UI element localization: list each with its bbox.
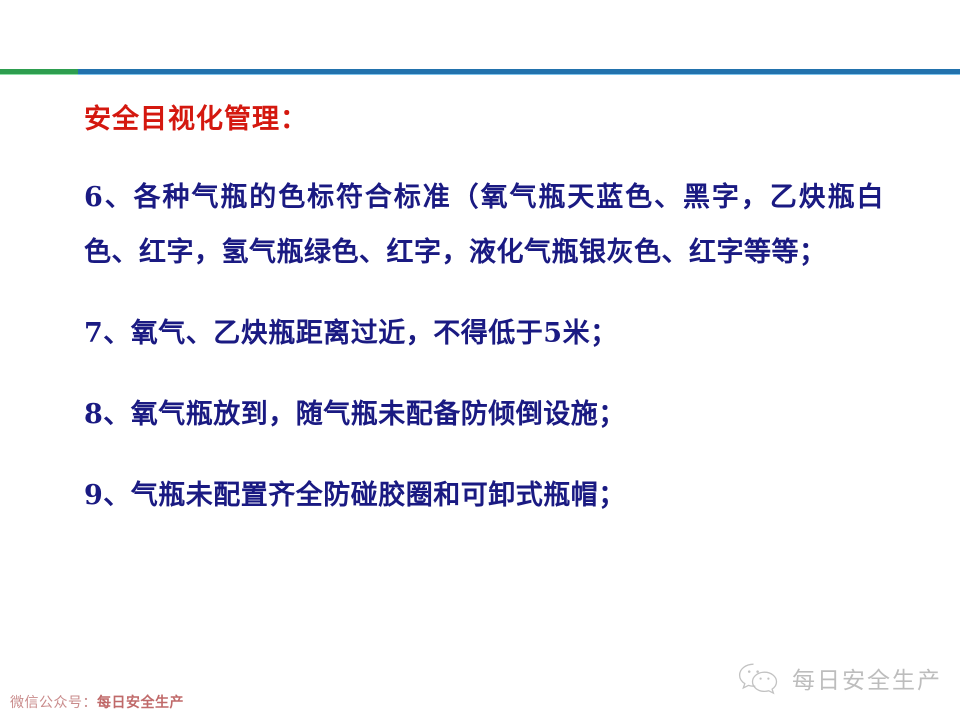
slide-content: 安全目视化管理： 6、各种气瓶的色标符合标准（氧气瓶天蓝色、黑字，乙炔瓶白色、红… (84, 104, 896, 523)
watermark-label: 微信公众号： (10, 695, 97, 711)
list-item-7: 7、氧气、乙炔瓶距离过近，不得低于5米； (84, 306, 896, 361)
watermark-bottom-right: 每日安全生产 (736, 660, 942, 696)
slide-title: 安全目视化管理： (84, 104, 896, 136)
list-item-8: 8、氧气瓶放到，随气瓶未配备防倾倒设施； (84, 387, 896, 442)
watermark-account-name: 每日安全生产 (97, 695, 184, 711)
accent-rule-blue-segment (78, 69, 960, 75)
list-item-9: 9、气瓶未配置齐全防碰胶圈和可卸式瓶帽； (84, 468, 896, 523)
slide-canvas: 安全目视化管理： 6、各种气瓶的色标符合标准（氧气瓶天蓝色、黑字，乙炔瓶白色、红… (0, 0, 960, 720)
wechat-icon (736, 660, 782, 696)
watermark-bottom-left: 微信公众号：每日安全生产 (10, 692, 184, 712)
list-item-6: 6、各种气瓶的色标符合标准（氧气瓶天蓝色、黑字，乙炔瓶白色、红字，氢气瓶绿色、红… (84, 170, 884, 280)
bullet-list: 6、各种气瓶的色标符合标准（氧气瓶天蓝色、黑字，乙炔瓶白色、红字，氢气瓶绿色、红… (84, 170, 896, 523)
top-accent-rule (0, 69, 960, 75)
accent-rule-green-segment (0, 69, 78, 75)
watermark-brand-text: 每日安全生产 (792, 661, 942, 695)
